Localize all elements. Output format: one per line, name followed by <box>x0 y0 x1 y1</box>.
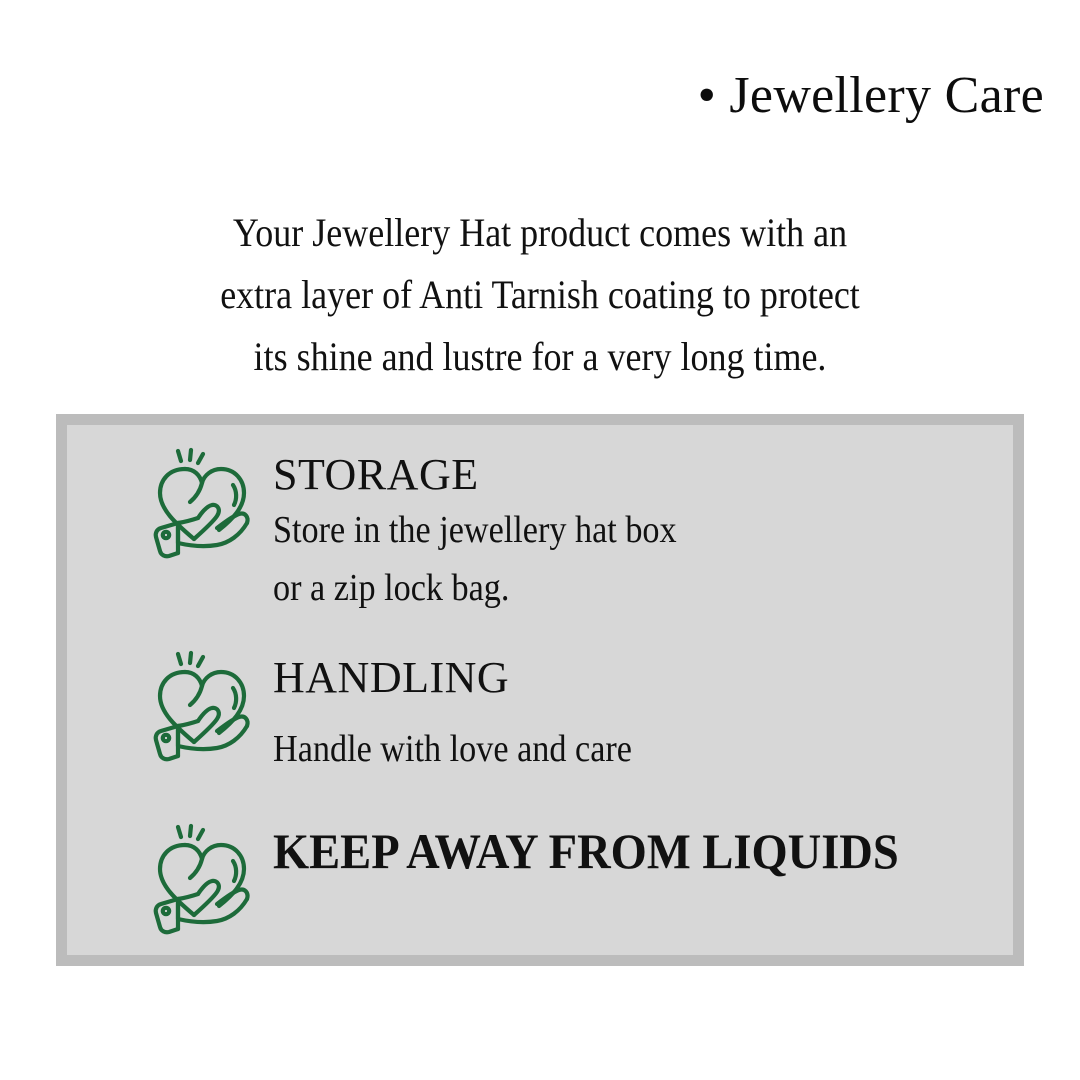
heart-in-hand-icon <box>145 823 257 935</box>
care-rows: STORAGE Store in the jewellery hat box o… <box>67 425 1013 955</box>
heart-in-hand-icon <box>145 650 257 762</box>
care-row-handling: HANDLING Handle with love and care <box>67 650 672 778</box>
care-row-heading: HANDLING <box>273 652 672 704</box>
care-instructions-card: STORAGE Store in the jewellery hat box o… <box>56 414 1024 966</box>
care-row-text: STORAGE Store in the jewellery hat box o… <box>273 447 722 617</box>
care-row-heading: KEEP AWAY FROM LIQUIDS <box>273 825 899 877</box>
intro-line: extra layer of Anti Tarnish coating to p… <box>108 264 972 326</box>
care-row-body-line: Handle with love and care <box>273 720 632 778</box>
care-row-body: Handle with love and care <box>273 720 632 778</box>
intro-line: Your Jewellery Hat product comes with an <box>108 202 972 264</box>
care-row-body: Store in the jewellery hat box or a zip … <box>273 501 677 617</box>
care-row-body-line: Store in the jewellery hat box <box>273 501 677 559</box>
care-row-liquids: KEEP AWAY FROM LIQUIDS <box>67 823 946 935</box>
care-row-text: HANDLING Handle with love and care <box>273 650 672 778</box>
intro-paragraph: Your Jewellery Hat product comes with an… <box>108 202 972 388</box>
page-title: • Jewellery Care <box>0 67 1044 124</box>
care-row-heading: STORAGE <box>273 449 722 501</box>
intro-line: its shine and lustre for a very long tim… <box>108 326 972 388</box>
heart-in-hand-icon <box>145 447 257 559</box>
care-row-text: KEEP AWAY FROM LIQUIDS <box>273 823 946 877</box>
care-row-storage: STORAGE Store in the jewellery hat box o… <box>67 447 722 617</box>
care-row-body-line: or a zip lock bag. <box>273 559 677 617</box>
